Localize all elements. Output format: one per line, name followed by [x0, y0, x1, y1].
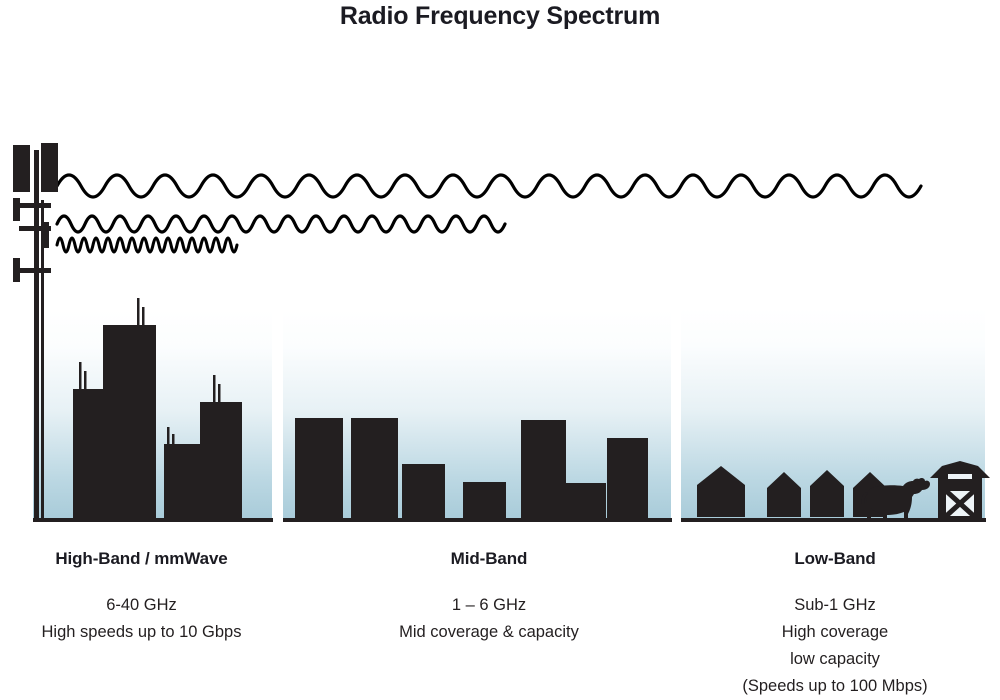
panel-low-band — [681, 308, 985, 520]
band-frequency-high: 6-40 GHz — [0, 592, 283, 619]
baseline-mid-band — [283, 518, 672, 522]
band-frequency-mid: 1 – 6 GHz — [339, 592, 639, 619]
baseline-low-band — [681, 518, 986, 522]
antenna-panel-left — [13, 145, 30, 192]
band-heading-low: Low-Band — [690, 549, 980, 569]
panel-mid-band — [283, 310, 671, 520]
tower-crossarm-middle — [19, 226, 51, 231]
tower-side-antenna-upper — [13, 198, 20, 221]
band-heading-high: High-Band / mmWave — [0, 549, 283, 569]
short-wavelength-wave — [57, 238, 237, 252]
tower-crossarm-upper — [19, 203, 51, 208]
band-description-low-line-3: (Speeds up to 100 Mbps) — [690, 673, 980, 700]
band-description-low-line-2: low capacity — [690, 646, 980, 673]
baseline-high-band — [33, 518, 273, 522]
panel-high-band — [33, 310, 272, 520]
infographic-root: Radio Frequency Spectrum — [0, 0, 1000, 700]
band-description-low-line-1: High coverage — [690, 619, 980, 646]
band-description-mid-line-1: Mid coverage & capacity — [339, 619, 639, 646]
tower-side-antenna-middle — [41, 222, 49, 248]
band-heading-mid: Mid-Band — [339, 549, 639, 569]
medium-wavelength-wave — [57, 216, 505, 232]
band-frequency-low: Sub-1 GHz — [690, 592, 980, 619]
page-title: Radio Frequency Spectrum — [0, 2, 1000, 31]
long-wavelength-wave — [57, 175, 921, 197]
tower-crossarm-lower — [19, 268, 51, 273]
band-description-high-line-1: High speeds up to 10 Gbps — [0, 619, 283, 646]
tower-side-antenna-lower — [13, 258, 20, 282]
antenna-panel-right — [41, 143, 58, 192]
wave-group — [57, 175, 921, 252]
